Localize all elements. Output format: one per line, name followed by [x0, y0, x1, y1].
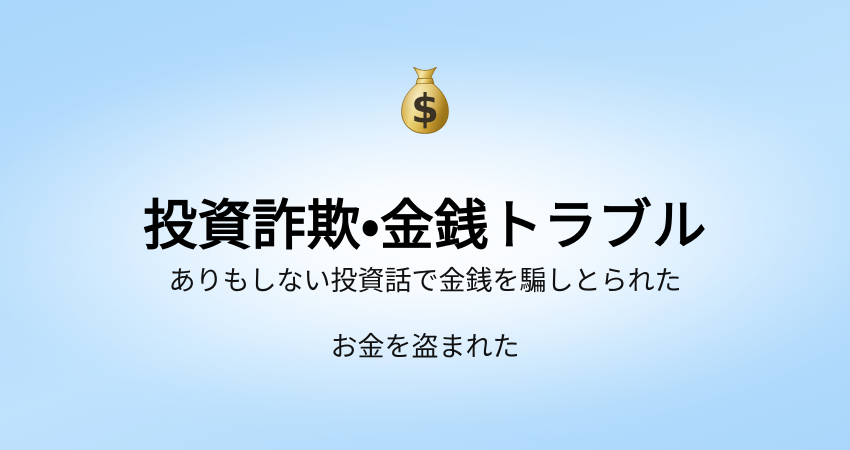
- banner-icon-wrap: $: [0, 60, 850, 140]
- money-bag-icon: $: [393, 64, 457, 136]
- money-bag-body: [402, 83, 449, 133]
- money-bag-tie: [414, 67, 437, 79]
- money-bag-highlight: [402, 83, 449, 133]
- subtitle-line-2: お金を盗まれた: [0, 334, 850, 362]
- subtitle-block: ありもしない投資話で金銭を騙しとられた お金を盗まれた: [0, 268, 850, 363]
- dollar-symbol: $: [411, 87, 439, 133]
- money-bag-neck: [416, 78, 434, 84]
- page-title: 投資詐欺・金銭トラブル: [0, 194, 850, 258]
- subtitle-line-1: ありもしない投資話で金銭を騙しとられた: [0, 268, 850, 296]
- investment-fraud-banner: $ 投資詐欺・金銭トラブル ありもしない投資話で金銭を騙しとられた お金を盗まれ…: [0, 0, 850, 450]
